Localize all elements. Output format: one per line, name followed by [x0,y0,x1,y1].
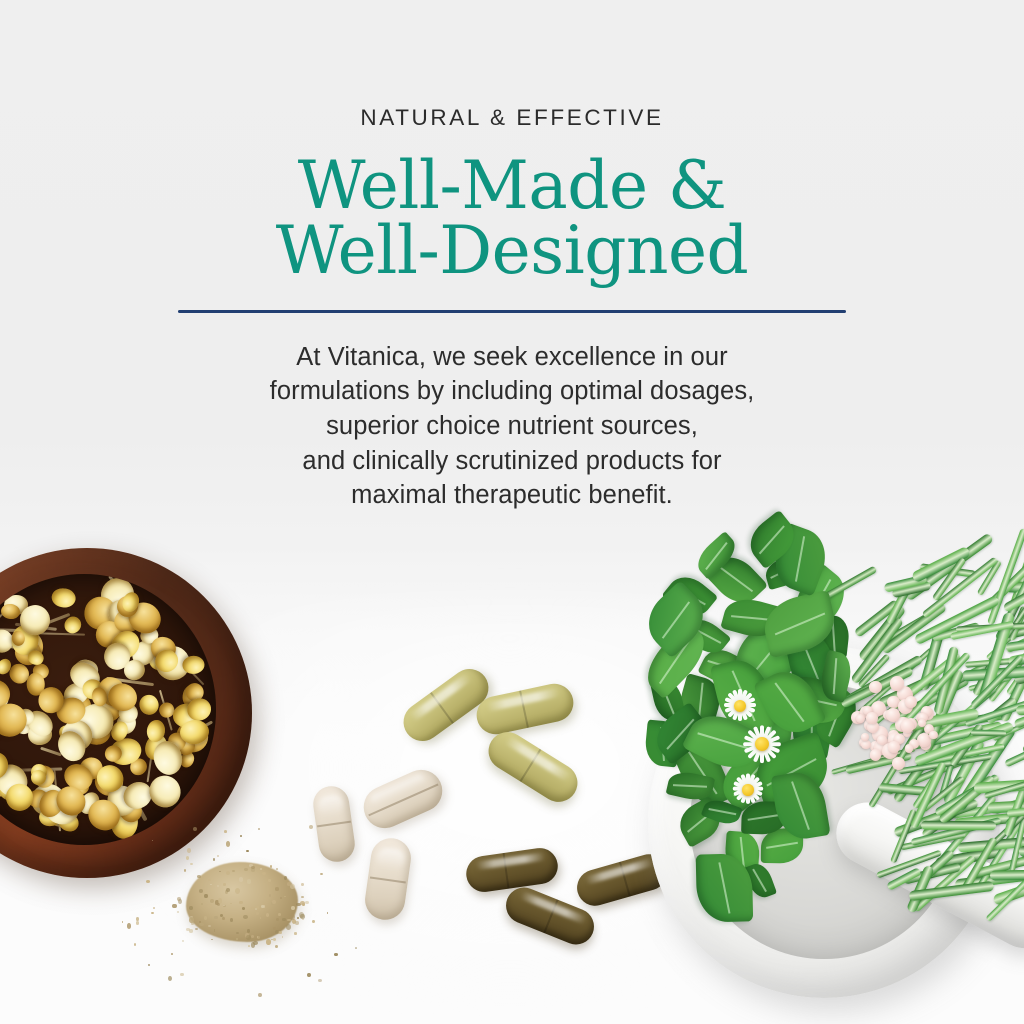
body-line-1: At Vitanica, we seek excellence in our [0,340,1024,375]
body-line-3: superior choice nutrient sources, [0,409,1024,444]
eyebrow-text: NATURAL & EFFECTIVE [0,104,1024,131]
flower-floret [892,757,905,770]
flower-floret [890,676,904,690]
headline-line-2: Well-Designed [0,218,1024,283]
flower-floret [905,696,917,708]
pink-flower-cluster [848,678,940,770]
flower-floret [861,740,871,750]
body-copy: At Vitanica, we seek excellence in our f… [0,340,1024,513]
flower-floret [929,731,937,739]
flower-floret [866,712,878,724]
daisy-center [755,737,769,751]
flower-floret [888,741,900,753]
daisy-center [734,700,746,712]
body-line-2: formulations by including optimal dosage… [0,374,1024,409]
flower-floret [901,719,915,733]
page-title: Well-Made & Well-Designed [0,153,1024,284]
body-line-5: maximal therapeutic benefit. [0,478,1024,513]
rosemary-needle [990,870,1024,881]
daisy-center [742,784,753,795]
flower-floret [869,681,882,694]
flower-floret [870,749,881,760]
headline-line-1: Well-Made & [0,153,1024,218]
flower-floret [886,708,900,722]
flower-floret [905,744,914,753]
body-line-4: and clinically scrutinized products for [0,444,1024,479]
divider-wrap [0,310,1024,313]
daisy-flower [738,720,785,767]
divider-rule [178,310,846,313]
text-block: NATURAL & EFFECTIVE Well-Made & Well-Des… [0,0,1024,513]
promo-banner: NATURAL & EFFECTIVE Well-Made & Well-Des… [0,0,1024,1024]
daisy-flower [729,771,767,809]
rosemary-needle [921,821,996,830]
